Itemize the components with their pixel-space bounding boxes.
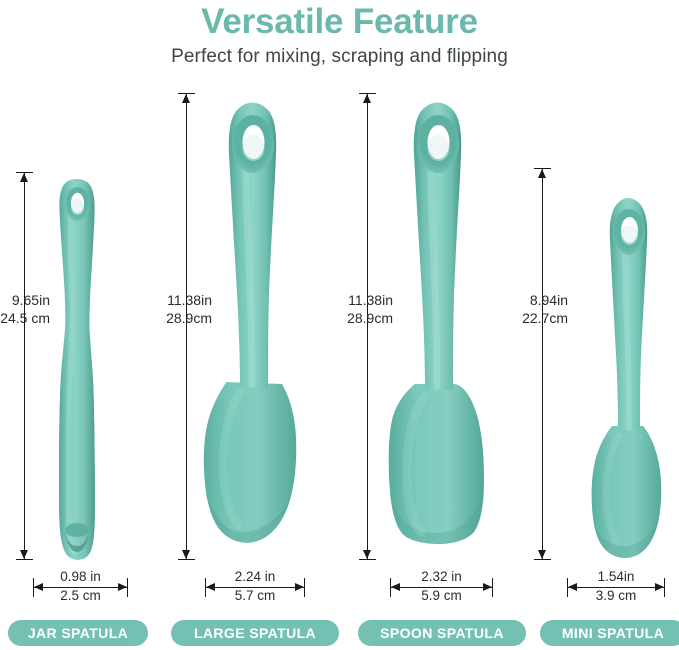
mini-spatula-svg (586, 190, 672, 562)
length-label-mini-spatula: 8.94in 22.7cm (512, 292, 568, 328)
width-dimension-jar-spatula: 0.98 in 2.5 cm (33, 570, 128, 604)
dimension-cap-bottom (359, 559, 376, 560)
hanging-hole-shadow (71, 199, 84, 215)
length-label-jar-spatula: 9.65in 24.5 cm (0, 292, 50, 328)
dimension-arrow-down (363, 550, 371, 559)
dimension-arrow-up (182, 94, 190, 103)
spoon-spatula-image (383, 92, 493, 562)
large-spatula-svg (198, 92, 308, 562)
product-label-jar-spatula[interactable]: JAR SPATULA (8, 620, 148, 646)
product-label-spoon-spatula[interactable]: SPOON SPATULA (358, 620, 526, 646)
dimension-arrow-up (20, 173, 28, 182)
product-comparison-stage: 9.65in 24.5 cm (0, 0, 679, 650)
width-inches: 2.24 in (205, 569, 305, 584)
width-centimeters: 2.5 cm (33, 588, 128, 603)
length-inches: 9.65in (0, 292, 50, 310)
dimension-cap-bottom (16, 559, 33, 560)
vertical-dimension-jar-spatula (10, 172, 40, 560)
length-centimeters: 22.7cm (512, 310, 568, 328)
width-inches: 1.54in (567, 569, 665, 584)
jar-spatula-image (47, 170, 107, 562)
hanging-hole-shadow (243, 135, 265, 161)
dimension-line (24, 172, 25, 560)
dimension-arrow-up (538, 169, 546, 178)
length-inches: 8.94in (512, 292, 568, 310)
width-inches: 2.32 in (390, 569, 493, 584)
vertical-dimension-mini-spatula (528, 168, 558, 560)
product-label-large-spatula[interactable]: LARGE SPATULA (171, 620, 339, 646)
hanging-hole-shadow (621, 225, 638, 245)
dimension-arrow-down (538, 550, 546, 559)
dimension-arrow-down (20, 550, 28, 559)
spoon-spatula-svg (383, 92, 493, 562)
dimension-cap-bottom (178, 559, 195, 560)
length-centimeters: 24.5 cm (0, 310, 50, 328)
jar-spatula-tip-inner (66, 523, 89, 537)
jar-spatula-svg (47, 170, 107, 562)
width-centimeters: 3.9 cm (567, 588, 665, 603)
dimension-arrow-up (363, 94, 371, 103)
hanging-hole-shadow (428, 135, 450, 161)
mini-spatula-image (586, 190, 672, 562)
large-spatula-image (198, 92, 308, 562)
width-inches: 0.98 in (33, 569, 128, 584)
width-centimeters: 5.9 cm (390, 588, 493, 603)
dimension-cap-bottom (534, 559, 551, 560)
width-dimension-large-spatula: 2.24 in 5.7 cm (205, 570, 305, 604)
width-dimension-spoon-spatula: 2.32 in 5.9 cm (390, 570, 493, 604)
dimension-arrow-down (182, 550, 190, 559)
dimension-line (542, 168, 543, 560)
width-dimension-mini-spatula: 1.54in 3.9 cm (567, 570, 665, 604)
product-label-mini-spatula[interactable]: MINI SPATULA (540, 620, 679, 646)
width-centimeters: 5.7 cm (205, 588, 305, 603)
